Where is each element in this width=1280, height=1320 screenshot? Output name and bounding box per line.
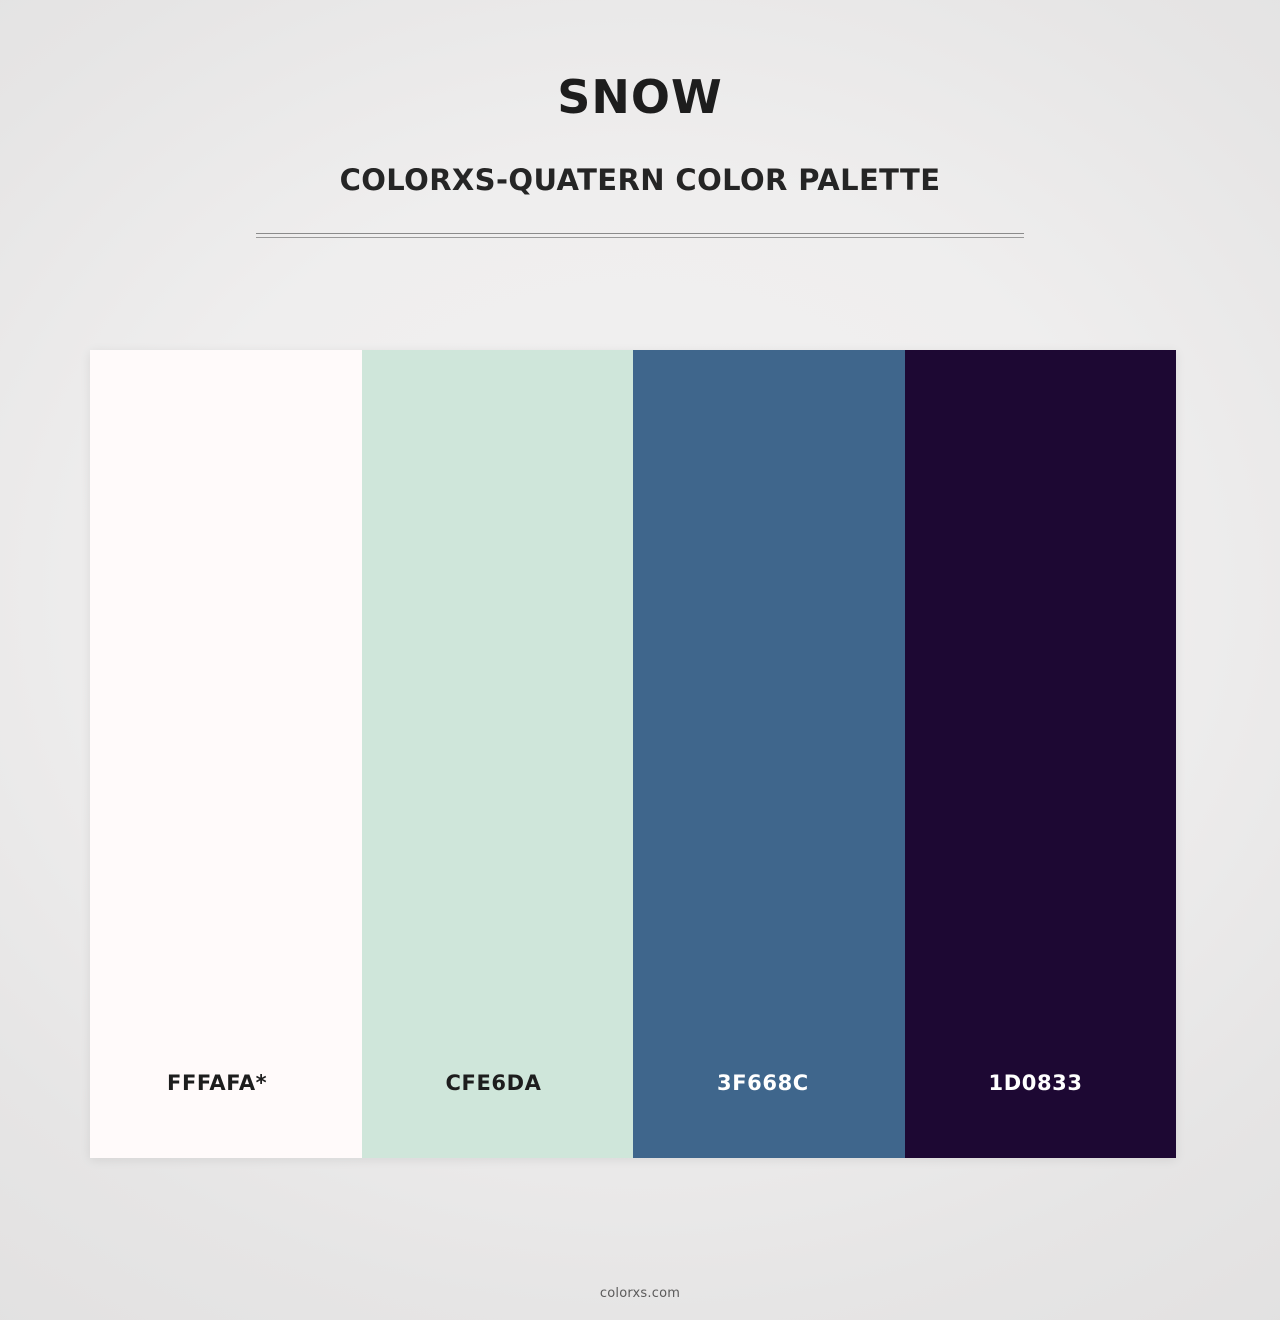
swatch-hex-label: CFE6DA (362, 1008, 634, 1158)
swatch-hex-label: FFFAFA* (90, 1008, 362, 1158)
color-swatch[interactable]: CFE6DA (362, 350, 634, 1158)
page-root: SNOW COLORXS-QUATERN COLOR PALETTE FFFAF… (0, 0, 1280, 1320)
color-swatch[interactable]: 3F668C (633, 350, 905, 1158)
swatch-color-block (90, 350, 362, 1008)
swatch-color-block (633, 350, 905, 1008)
swatch-hex-label: 3F668C (633, 1008, 905, 1158)
title-divider (256, 233, 1024, 238)
color-swatch[interactable]: 1D0833 (905, 350, 1177, 1158)
page-title: SNOW (0, 74, 1280, 120)
footer-site-label: colorxs.com (0, 1286, 1280, 1301)
page-subtitle: COLORXS-QUATERN COLOR PALETTE (0, 166, 1280, 195)
swatch-color-block (905, 350, 1177, 1008)
swatch-color-block (362, 350, 634, 1008)
swatch-hex-label: 1D0833 (905, 1008, 1177, 1158)
divider-line-top (256, 233, 1024, 234)
divider-line-bottom (256, 237, 1024, 238)
color-swatch[interactable]: FFFAFA* (90, 350, 362, 1158)
color-palette: FFFAFA* CFE6DA 3F668C 1D0833 (90, 350, 1176, 1158)
